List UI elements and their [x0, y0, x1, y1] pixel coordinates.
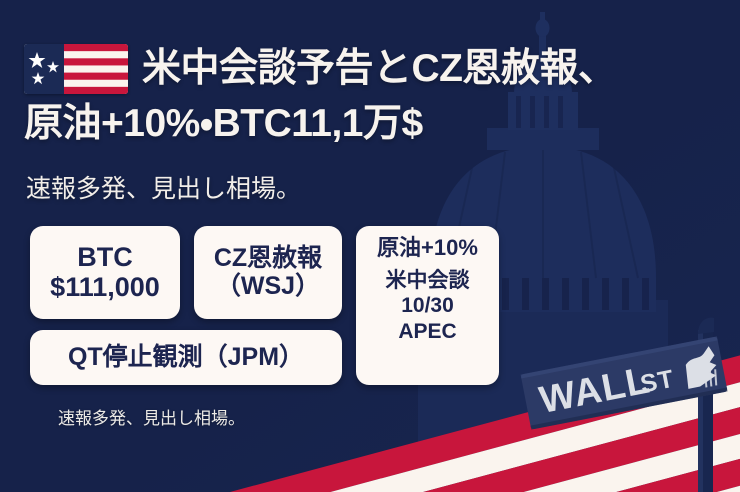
card-btc-value: $111,000 — [50, 272, 160, 302]
card-oil-headline: 原油+10% — [377, 236, 478, 261]
headline-row: 米中会談予告とCZ恩赦報、 — [0, 0, 740, 94]
card-qt-halt[interactable]: QT停止観測（JPM） — [30, 330, 342, 385]
title-line-2: 原油+10%・BTC11,1万$ — [0, 94, 740, 145]
us-flag-icon — [24, 44, 128, 94]
footer-note: 速報多発、見出し相場。 — [0, 385, 740, 429]
subtitle: 速報多発、見出し相場。 — [0, 145, 740, 205]
cards-left-group: BTC $111,000 CZ恩赦報 （WSJ） QT停止観測（JPM） — [30, 226, 342, 385]
poster-canvas: WALL ST — [0, 0, 740, 492]
card-btc-price[interactable]: BTC $111,000 — [30, 226, 180, 319]
card-cz-source: （WSJ） — [216, 272, 320, 300]
card-cz-pardon[interactable]: CZ恩赦報 （WSJ） — [194, 226, 342, 319]
title-line-1: 米中会談予告とCZ恩赦報、 — [142, 49, 617, 90]
card-oil-apec[interactable]: 原油+10% 米中会談 10/30 APEC — [356, 226, 499, 385]
card-oil-meeting: 米中会談 — [386, 269, 470, 293]
cards-top-row: BTC $111,000 CZ恩赦報 （WSJ） — [30, 226, 342, 319]
card-btc-label: BTC — [77, 242, 133, 272]
card-oil-date: 10/30 — [401, 294, 454, 318]
poster-content: 米中会談予告とCZ恩赦報、 原油+10%・BTC11,1万$ 速報多発、見出し相… — [0, 0, 740, 492]
card-oil-event: APEC — [398, 320, 456, 344]
cards-container: BTC $111,000 CZ恩赦報 （WSJ） QT停止観測（JPM） 原油+… — [0, 226, 500, 385]
card-qt-text: QT停止観測（JPM） — [68, 343, 304, 371]
card-cz-headline: CZ恩赦報 — [214, 244, 322, 272]
